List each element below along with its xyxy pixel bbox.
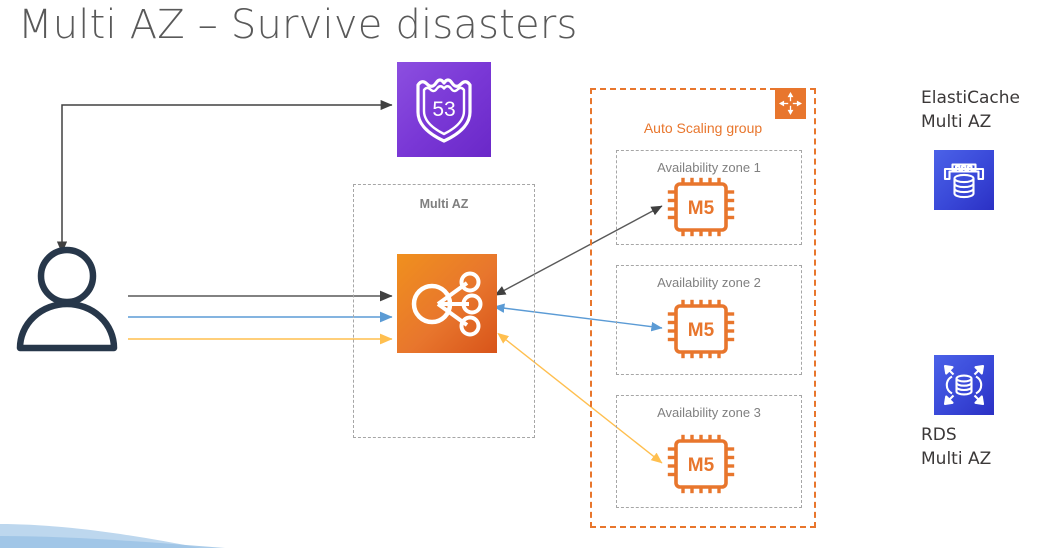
ec2-instance-type-label: M5 (688, 198, 715, 219)
ec2-chip-icon: M5 (666, 176, 736, 238)
route-53-tile[interactable]: 53 (397, 62, 491, 157)
load-balancer-icon (407, 268, 487, 340)
route53-badge-text: 53 (432, 98, 455, 121)
ec2-instance-zone-1[interactable]: M5 (666, 176, 736, 238)
multi-az-group-label: Multi AZ (354, 197, 534, 211)
user-actor (12, 243, 122, 358)
availability-zone-1-label: Availability zone 1 (617, 160, 801, 175)
elasticache-tile[interactable] (934, 150, 994, 210)
decorative-swoosh (0, 506, 330, 548)
page-title: Multi AZ – Survive disasters (18, 2, 578, 48)
availability-zone-2-label: Availability zone 2 (617, 275, 801, 290)
slide-canvas: Multi AZ – Survive disasters (0, 0, 1038, 548)
rds-caption: RDS Multi AZ (921, 423, 991, 471)
wire-user-to-route53 (62, 105, 392, 243)
rds-multi-az-icon (940, 361, 988, 409)
ec2-instance-zone-2[interactable]: M5 (666, 298, 736, 360)
ec2-instance-type-label: M5 (688, 320, 715, 341)
load-balancer-tile[interactable] (397, 254, 497, 353)
ec2-chip-icon: M5 (666, 433, 736, 495)
elasticache-icon (941, 157, 987, 203)
route53-shield-icon: 53 (409, 74, 479, 146)
elasticache-caption: ElastiCache Multi AZ (921, 86, 1020, 134)
auto-scaling-group-label: Auto Scaling group (592, 120, 814, 136)
auto-scaling-icon (775, 88, 806, 119)
rds-tile[interactable] (934, 355, 994, 415)
availability-zone-3-label: Availability zone 3 (617, 405, 801, 420)
ec2-instance-zone-3[interactable]: M5 (666, 433, 736, 495)
ec2-chip-icon: M5 (666, 298, 736, 360)
ec2-instance-type-label: M5 (688, 455, 715, 476)
user-icon (20, 250, 114, 348)
